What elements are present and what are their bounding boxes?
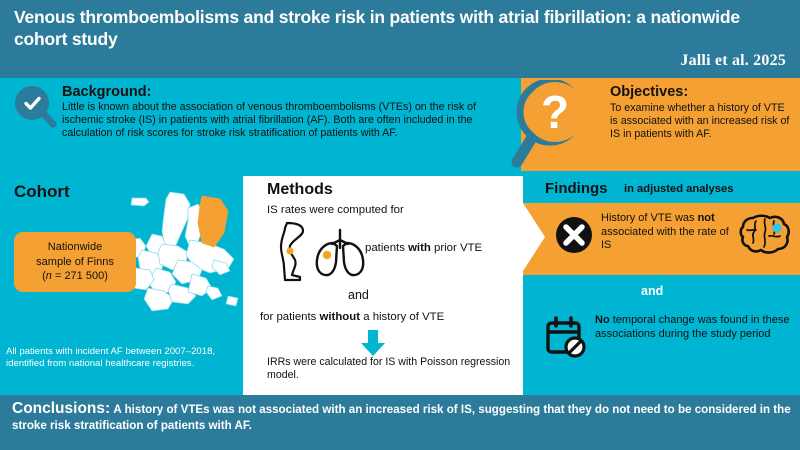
conclusions-bar: Conclusions: A history of VTEs was not a… <box>0 395 800 450</box>
down-arrow-icon <box>360 330 386 356</box>
findings-panel: Findings in adjusted analyses History of… <box>523 176 800 395</box>
conclusions-text: A history of VTEs was not associated wit… <box>12 403 791 432</box>
findings-subtitle: in adjusted analyses <box>624 183 733 195</box>
magnifier-question-icon: ? <box>503 80 595 180</box>
question-mark-glyph: ? <box>525 82 585 142</box>
vte-icons-group <box>277 220 377 282</box>
findings-item-2: No temporal change was found in these as… <box>595 314 795 341</box>
sample-size-pill: Nationwide sample of Finns (n = 271 500) <box>14 232 136 292</box>
pill-line-1: Nationwide <box>48 240 102 255</box>
calendar-no-change-icon <box>545 316 587 358</box>
findings-item-1: History of VTE was not associated with t… <box>601 212 737 253</box>
findings-connector: and <box>641 284 663 298</box>
conclusions-content: Conclusions: A history of VTEs was not a… <box>12 401 792 434</box>
methods-line-2: patients with prior VTE <box>365 242 482 254</box>
background-text: Little is known about the association of… <box>62 101 512 141</box>
magnifier-check-icon <box>14 86 58 130</box>
header-bar: Venous thromboembolisms and stroke risk … <box>0 0 800 78</box>
pill-line-3: (n = 271 500) <box>42 269 108 284</box>
methods-panel: Methods IS rates were computed for patie… <box>243 176 523 395</box>
cohort-title: Cohort <box>14 182 70 202</box>
visual-abstract-poster: Venous thromboembolisms and stroke risk … <box>0 0 800 450</box>
authors-citation: Jalli et al. 2025 <box>680 52 786 70</box>
findings-notch-icon <box>523 203 547 313</box>
methods-connector: and <box>348 288 369 302</box>
objectives-heading: Objectives: <box>610 84 688 100</box>
cohort-note: All patients with incident AF between 20… <box>6 346 244 370</box>
lung-clot-marker <box>323 251 331 259</box>
stroke-lesion-marker <box>772 223 781 232</box>
objectives-text: To examine whether a history of VTE is a… <box>610 102 792 142</box>
conclusions-heading: Conclusions: <box>12 400 110 417</box>
page-title: Venous thromboembolisms and stroke risk … <box>14 6 786 50</box>
methods-title: Methods <box>267 181 333 199</box>
findings-title: Findings <box>545 180 608 197</box>
leg-clot-marker <box>286 247 293 254</box>
x-circle-icon <box>555 216 593 254</box>
methods-line-4: IRRs were calculated for IS with Poisson… <box>267 356 523 382</box>
methods-line-3: for patients without a history of VTE <box>260 311 444 323</box>
background-heading: Background: <box>62 84 151 100</box>
cohort-panel: Cohort <box>0 176 243 395</box>
brain-stroke-icon <box>739 214 791 256</box>
mid-row: Cohort <box>0 176 800 395</box>
methods-line-1: IS rates were computed for <box>267 204 404 216</box>
pill-line-2: sample of Finns <box>36 255 114 270</box>
